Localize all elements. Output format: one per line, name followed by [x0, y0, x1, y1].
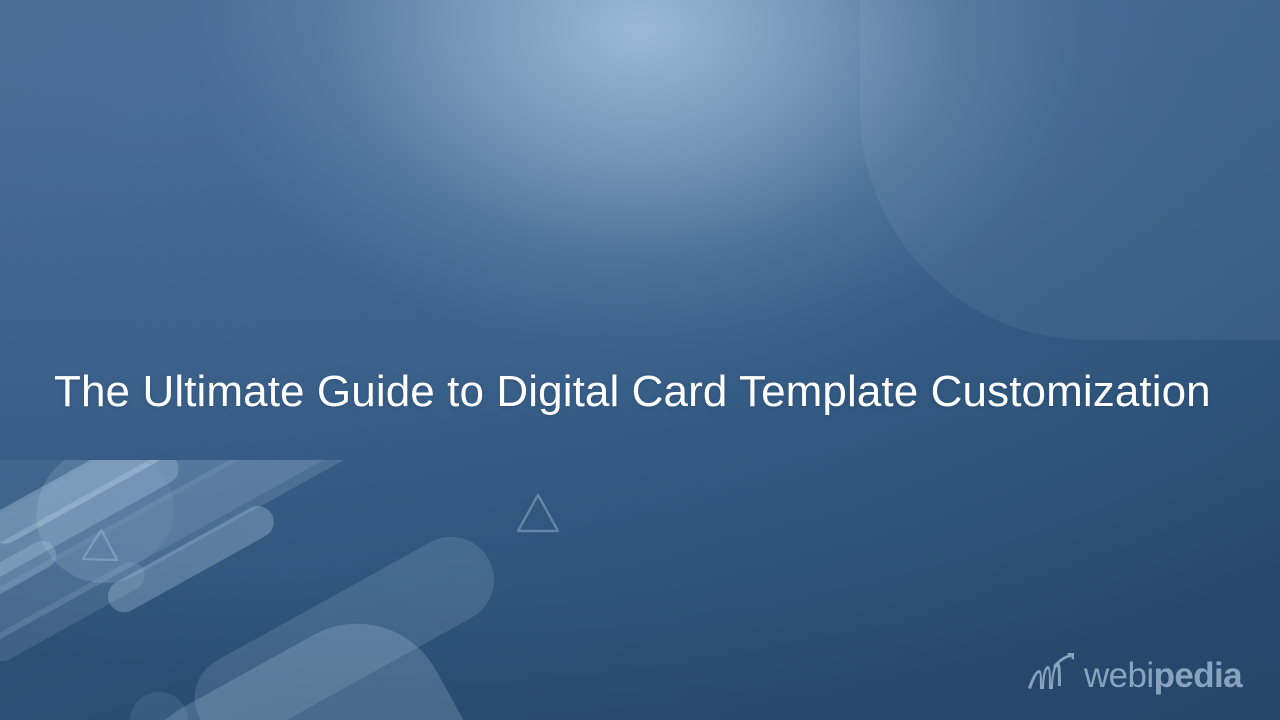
logo-wordmark: webipedia [1084, 658, 1242, 693]
logo-text-light: webi [1084, 656, 1154, 695]
triangle-outline-up [515, 492, 561, 534]
brand-logo: webipedia [1026, 653, 1242, 698]
circle-small [130, 692, 188, 720]
page-title: The Ultimate Guide to Digital Card Templ… [54, 366, 1234, 418]
webipedia-mark-icon [1026, 653, 1078, 698]
title-slide: The Ultimate Guide to Digital Card Templ… [0, 0, 1280, 720]
diagonal-capsules [0, 460, 589, 720]
logo-text-bold: pedia [1154, 656, 1242, 695]
